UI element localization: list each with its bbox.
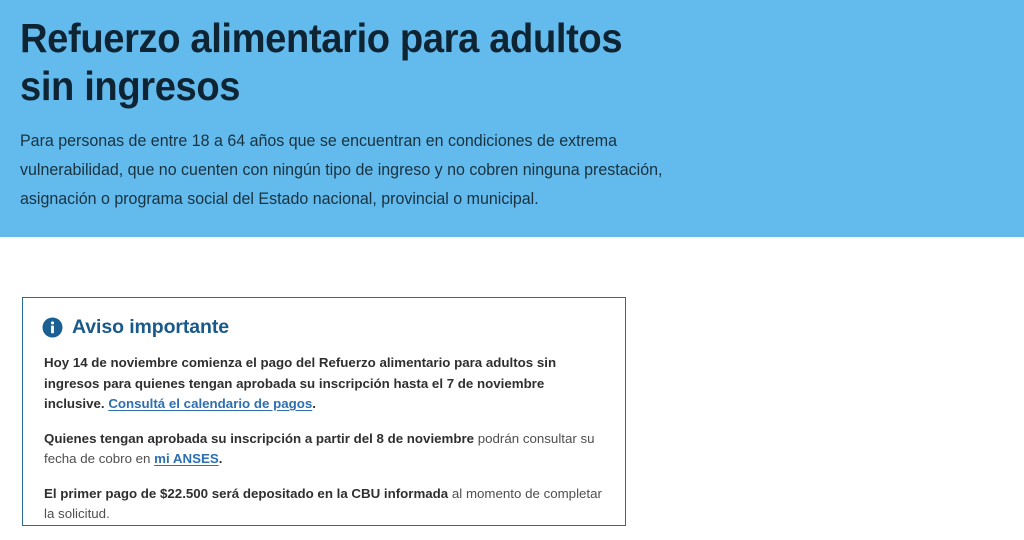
hero-banner: Refuerzo alimentario para adultos sin in…	[0, 0, 1024, 237]
notice-paragraph-1: Hoy 14 de noviembre comienza el pago del…	[44, 353, 605, 415]
notice-body: Hoy 14 de noviembre comienza el pago del…	[42, 353, 605, 525]
notice-paragraph-2-period: .	[219, 451, 223, 466]
mi-anses-link[interactable]: mi ANSES	[154, 451, 219, 466]
calendario-de-pagos-link[interactable]: Consultá el calendario de pagos	[108, 396, 312, 411]
hero-content: Refuerzo alimentario para adultos sin in…	[20, 14, 720, 214]
notice-paragraph-3: El primer pago de $22.500 será depositad…	[44, 484, 605, 525]
notice-paragraph-3-bold: El primer pago de $22.500 será depositad…	[44, 486, 448, 501]
page-title: Refuerzo alimentario para adultos sin in…	[20, 14, 671, 110]
important-notice-box: Aviso importante Hoy 14 de noviembre com…	[22, 297, 626, 526]
hero-subtitle: Para personas de entre 18 a 64 años que …	[20, 110, 689, 214]
notice-title: Aviso importante	[72, 316, 229, 338]
page-root: Refuerzo alimentario para adultos sin in…	[0, 0, 1024, 540]
notice-paragraph-2-bold: Quienes tengan aprobada su inscripción a…	[44, 431, 474, 446]
notice-header: Aviso importante	[42, 316, 605, 338]
info-circle-icon	[42, 317, 63, 338]
notice-paragraph-2: Quienes tengan aprobada su inscripción a…	[44, 429, 605, 470]
notice-paragraph-1-period: .	[312, 396, 316, 411]
